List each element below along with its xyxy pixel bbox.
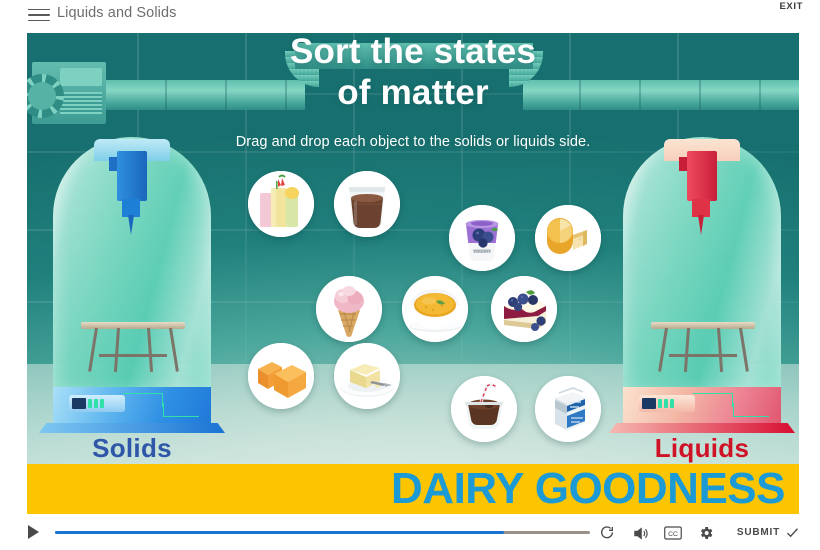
menu-bar-3 xyxy=(28,20,50,22)
jar-base-plate xyxy=(39,423,225,433)
dairy-goodness-text: DAIRY GOODNESS xyxy=(391,464,799,514)
zone-label-solids: Solids xyxy=(39,433,225,464)
creamy-soup-bowl-icon xyxy=(402,276,468,342)
activity-title-line-1: Sort the states xyxy=(27,33,799,72)
activity-title: Sort the states of matter xyxy=(27,33,799,113)
meter-bar xyxy=(658,399,662,408)
specimen-stool xyxy=(651,322,755,372)
nozzle-tip xyxy=(698,215,704,235)
replay-icon[interactable] xyxy=(597,523,617,543)
fruit-smoothies-icon xyxy=(248,171,314,237)
play-icon[interactable] xyxy=(28,525,39,539)
stool-crossbar xyxy=(99,354,167,357)
meter-bar xyxy=(100,399,104,408)
meter-screen xyxy=(642,398,656,409)
progress-bar-fill xyxy=(55,531,504,534)
control-meter-solids xyxy=(69,395,125,412)
draggable-item-creamy-soup-bowl[interactable] xyxy=(402,276,468,342)
dispenser-nozzle-liquids xyxy=(679,151,723,237)
nozzle-tip xyxy=(128,215,134,235)
check-icon xyxy=(785,525,800,540)
draggable-item-butter-on-plate[interactable] xyxy=(334,343,400,409)
draggable-item-blueberry-yogurt-cup[interactable]: YOGURT xyxy=(449,205,515,271)
progress-bar[interactable] xyxy=(55,531,590,534)
blueberry-cheesecake-icon xyxy=(491,276,557,342)
stool-leg xyxy=(169,328,179,372)
nozzle-neck xyxy=(692,199,710,217)
svg-text:CC: CC xyxy=(668,531,678,538)
stool-leg xyxy=(114,328,120,372)
nozzle-body xyxy=(117,151,147,201)
submit-button[interactable]: SUBMIT xyxy=(737,525,800,540)
draggable-item-fruit-smoothies[interactable] xyxy=(248,171,314,237)
volume-icon[interactable] xyxy=(630,523,650,543)
svg-text:YOGURT: YOGURT xyxy=(473,249,491,254)
drop-zone-solids[interactable]: Solids xyxy=(39,137,225,432)
draggable-item-cheddar-cheese-blocks[interactable] xyxy=(248,343,314,409)
submit-button-label: SUBMIT xyxy=(737,527,780,538)
stool-leg xyxy=(88,328,98,372)
butter-on-plate-icon xyxy=(334,343,400,409)
drop-zone-liquids[interactable]: Liquids xyxy=(609,137,795,432)
stool-leg xyxy=(147,328,153,372)
meter-bar xyxy=(664,399,668,408)
meter-bar xyxy=(88,399,92,408)
dairy-goodness-banner: DAIRY GOODNESS xyxy=(27,464,799,514)
draggable-item-ice-cream-cone[interactable] xyxy=(316,276,382,342)
meter-bar xyxy=(94,399,98,408)
control-meter-liquids xyxy=(639,395,695,412)
app-header: Liquids and Solids EXIT xyxy=(0,0,820,33)
ice-cream-cone-icon xyxy=(316,276,382,342)
draggable-item-chocolate-pudding[interactable] xyxy=(451,376,517,442)
closed-captions-icon[interactable]: CC xyxy=(663,523,683,543)
circuit-trace xyxy=(693,393,733,407)
stool-leg xyxy=(658,328,668,372)
chocolate-milk-glass-icon xyxy=(334,171,400,237)
exit-button[interactable]: EXIT xyxy=(779,1,803,12)
meter-screen xyxy=(72,398,86,409)
circuit-trace xyxy=(163,403,199,417)
media-control-bar: CC SUBMIT xyxy=(0,514,820,550)
dispenser-nozzle-solids xyxy=(109,151,153,237)
circuit-trace xyxy=(733,403,769,417)
draggable-item-chocolate-milk-glass[interactable] xyxy=(334,171,400,237)
draggable-item-cheese-wheel[interactable] xyxy=(535,205,601,271)
menu-bar-2 xyxy=(28,14,50,16)
chocolate-pudding-icon xyxy=(451,376,517,442)
activity-title-line-2: of matter xyxy=(27,72,799,113)
draggable-item-milk-carton[interactable] xyxy=(535,376,601,442)
activity-stage: Sort the states of matter Drag and drop … xyxy=(27,33,799,514)
meter-bar xyxy=(670,399,674,408)
gear-icon[interactable] xyxy=(696,523,716,543)
draggable-item-blueberry-cheesecake[interactable] xyxy=(491,276,557,342)
circuit-trace xyxy=(123,393,163,407)
page-title: Liquids and Solids xyxy=(57,2,177,24)
specimen-stool xyxy=(81,322,185,372)
zone-label-liquids: Liquids xyxy=(609,433,795,464)
blueberry-yogurt-cup-icon: YOGURT xyxy=(449,205,515,271)
stool-leg xyxy=(717,328,723,372)
cheese-wheel-icon xyxy=(535,205,601,271)
nozzle-neck xyxy=(122,199,140,217)
stool-leg xyxy=(684,328,690,372)
cheddar-cheese-blocks-icon xyxy=(248,343,314,409)
stool-crossbar xyxy=(669,354,737,357)
nozzle-body xyxy=(687,151,717,201)
hamburger-menu-icon[interactable] xyxy=(28,4,50,26)
menu-bar-1 xyxy=(28,9,50,11)
jar-base-plate xyxy=(609,423,795,433)
stool-leg xyxy=(739,328,749,372)
milk-carton-icon xyxy=(535,376,601,442)
